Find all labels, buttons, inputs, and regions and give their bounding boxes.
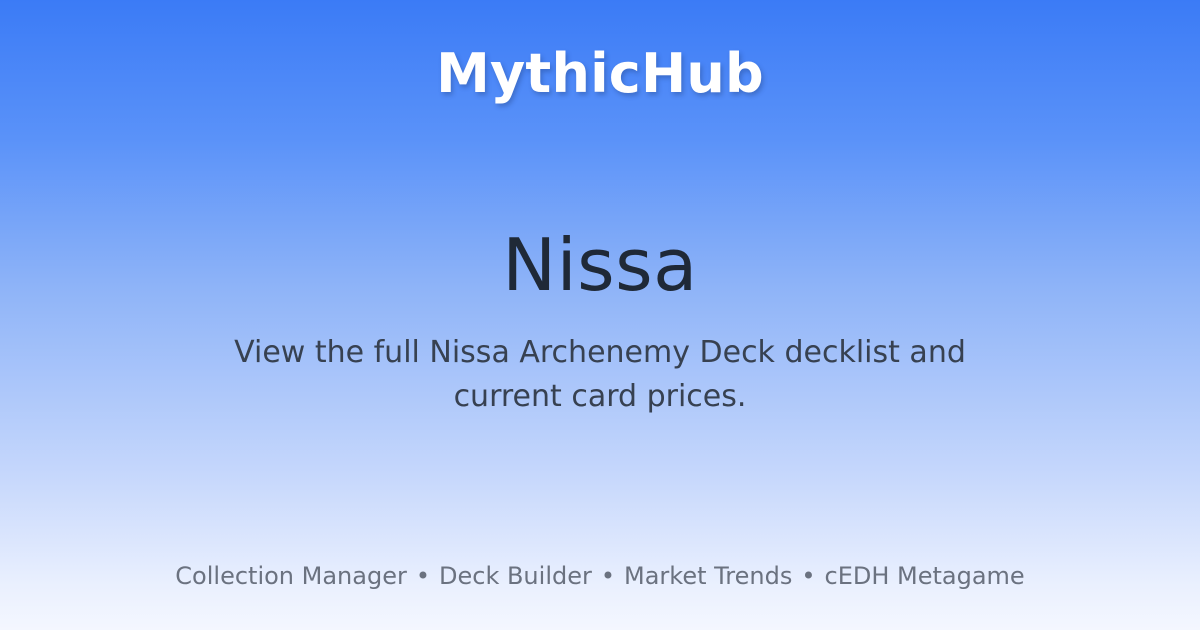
footer-item: Market Trends xyxy=(624,562,792,590)
footer-item: cEDH Metagame xyxy=(825,562,1025,590)
footer-item: Deck Builder xyxy=(439,562,592,590)
footer: Collection Manager•Deck Builder•Market T… xyxy=(0,561,1200,630)
footer-item: Collection Manager xyxy=(175,562,407,590)
footer-separator: • xyxy=(792,562,824,590)
footer-feature-list: Collection Manager•Deck Builder•Market T… xyxy=(175,561,1024,592)
page-subtitle-line-2: current card prices. xyxy=(454,379,747,414)
footer-separator: • xyxy=(407,562,439,590)
page-subtitle: View the full Nissa Archenemy Deck deckl… xyxy=(234,331,966,420)
page-title: Nissa xyxy=(502,227,698,305)
card-center-block: Nissa View the full Nissa Archenemy Deck… xyxy=(0,103,1200,560)
footer-separator: • xyxy=(592,562,624,590)
brand-wordmark: MythicHub xyxy=(436,44,764,103)
og-share-card: MythicHub Nissa View the full Nissa Arch… xyxy=(0,0,1200,630)
page-subtitle-line-1: View the full Nissa Archenemy Deck deckl… xyxy=(234,335,966,370)
